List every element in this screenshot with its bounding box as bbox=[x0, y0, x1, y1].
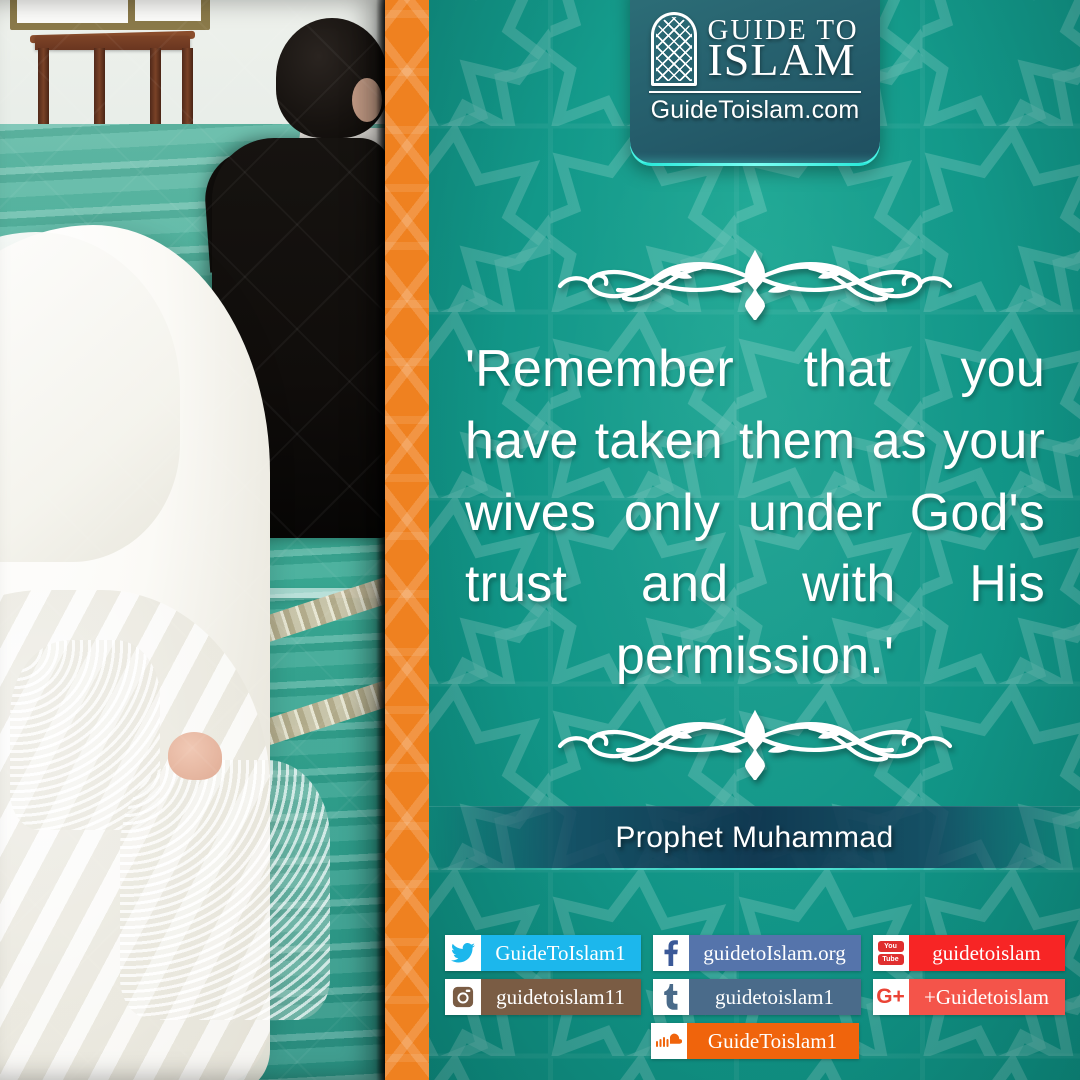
instagram-icon bbox=[445, 979, 481, 1015]
photo-edge-shadow bbox=[0, 0, 385, 1080]
quote-attribution: Prophet Muhammad bbox=[615, 821, 893, 855]
social-badge-tumblr[interactable]: guidetoislam1 bbox=[653, 979, 861, 1015]
social-handle: guidetoislam bbox=[909, 935, 1065, 971]
flourish-ornament-top bbox=[540, 246, 970, 320]
tumblr-icon bbox=[653, 979, 689, 1015]
logo-line-2: ISLAM bbox=[707, 39, 858, 81]
social-badge-googleplus[interactable]: G+ +Guidetoislam bbox=[873, 979, 1065, 1015]
orange-divider-strip bbox=[385, 0, 429, 1080]
social-badge-instagram[interactable]: guidetoislam11 bbox=[445, 979, 641, 1015]
logo-website: GuideToislam.com bbox=[651, 96, 860, 125]
social-handle: GuideToIslam1 bbox=[481, 935, 641, 971]
social-links: GuideToIslam1 guidetoIslam.org You bbox=[429, 935, 1080, 1059]
logo-divider-rule bbox=[649, 91, 861, 93]
wedding-photo bbox=[0, 0, 385, 1080]
quote-text: 'Remember that you have taken them as yo… bbox=[465, 334, 1045, 693]
soundcloud-icon bbox=[651, 1023, 687, 1059]
facebook-icon bbox=[653, 935, 689, 971]
mosque-arch-icon bbox=[651, 12, 697, 86]
logo-row: GUIDE TO ISLAM bbox=[651, 12, 858, 86]
content-panel: GUIDE TO ISLAM GuideToislam.com bbox=[429, 0, 1080, 1080]
youtube-icon: You Tube bbox=[873, 935, 909, 971]
flourish-ornament-bottom bbox=[540, 706, 970, 780]
gplus-glyph: G+ bbox=[876, 985, 905, 1009]
logo-wordmark: GUIDE TO ISLAM bbox=[707, 17, 858, 82]
social-handle: +Guidetoislam bbox=[909, 979, 1065, 1015]
social-badge-facebook[interactable]: guidetoIslam.org bbox=[653, 935, 861, 971]
social-row: GuideToIslam1 guidetoIslam.org You bbox=[445, 935, 1065, 971]
social-badge-soundcloud[interactable]: GuideToislam1 bbox=[651, 1023, 859, 1059]
social-row: GuideToislam1 bbox=[651, 1023, 859, 1059]
social-badge-twitter[interactable]: GuideToIslam1 bbox=[445, 935, 641, 971]
quote-poster: GUIDE TO ISLAM GuideToislam.com bbox=[0, 0, 1080, 1080]
attribution-band: Prophet Muhammad bbox=[429, 806, 1080, 868]
social-row: guidetoislam11 guidetoislam1 G+ bbox=[445, 979, 1065, 1015]
social-handle: guidetoIslam.org bbox=[689, 935, 861, 971]
twitter-icon bbox=[445, 935, 481, 971]
brand-logo-plate[interactable]: GUIDE TO ISLAM GuideToislam.com bbox=[630, 0, 880, 166]
social-handle: guidetoislam11 bbox=[481, 979, 641, 1015]
social-badge-youtube[interactable]: You Tube guidetoislam bbox=[873, 935, 1065, 971]
google-plus-icon: G+ bbox=[873, 979, 909, 1015]
social-handle: guidetoislam1 bbox=[689, 979, 861, 1015]
social-handle: GuideToislam1 bbox=[687, 1023, 859, 1059]
